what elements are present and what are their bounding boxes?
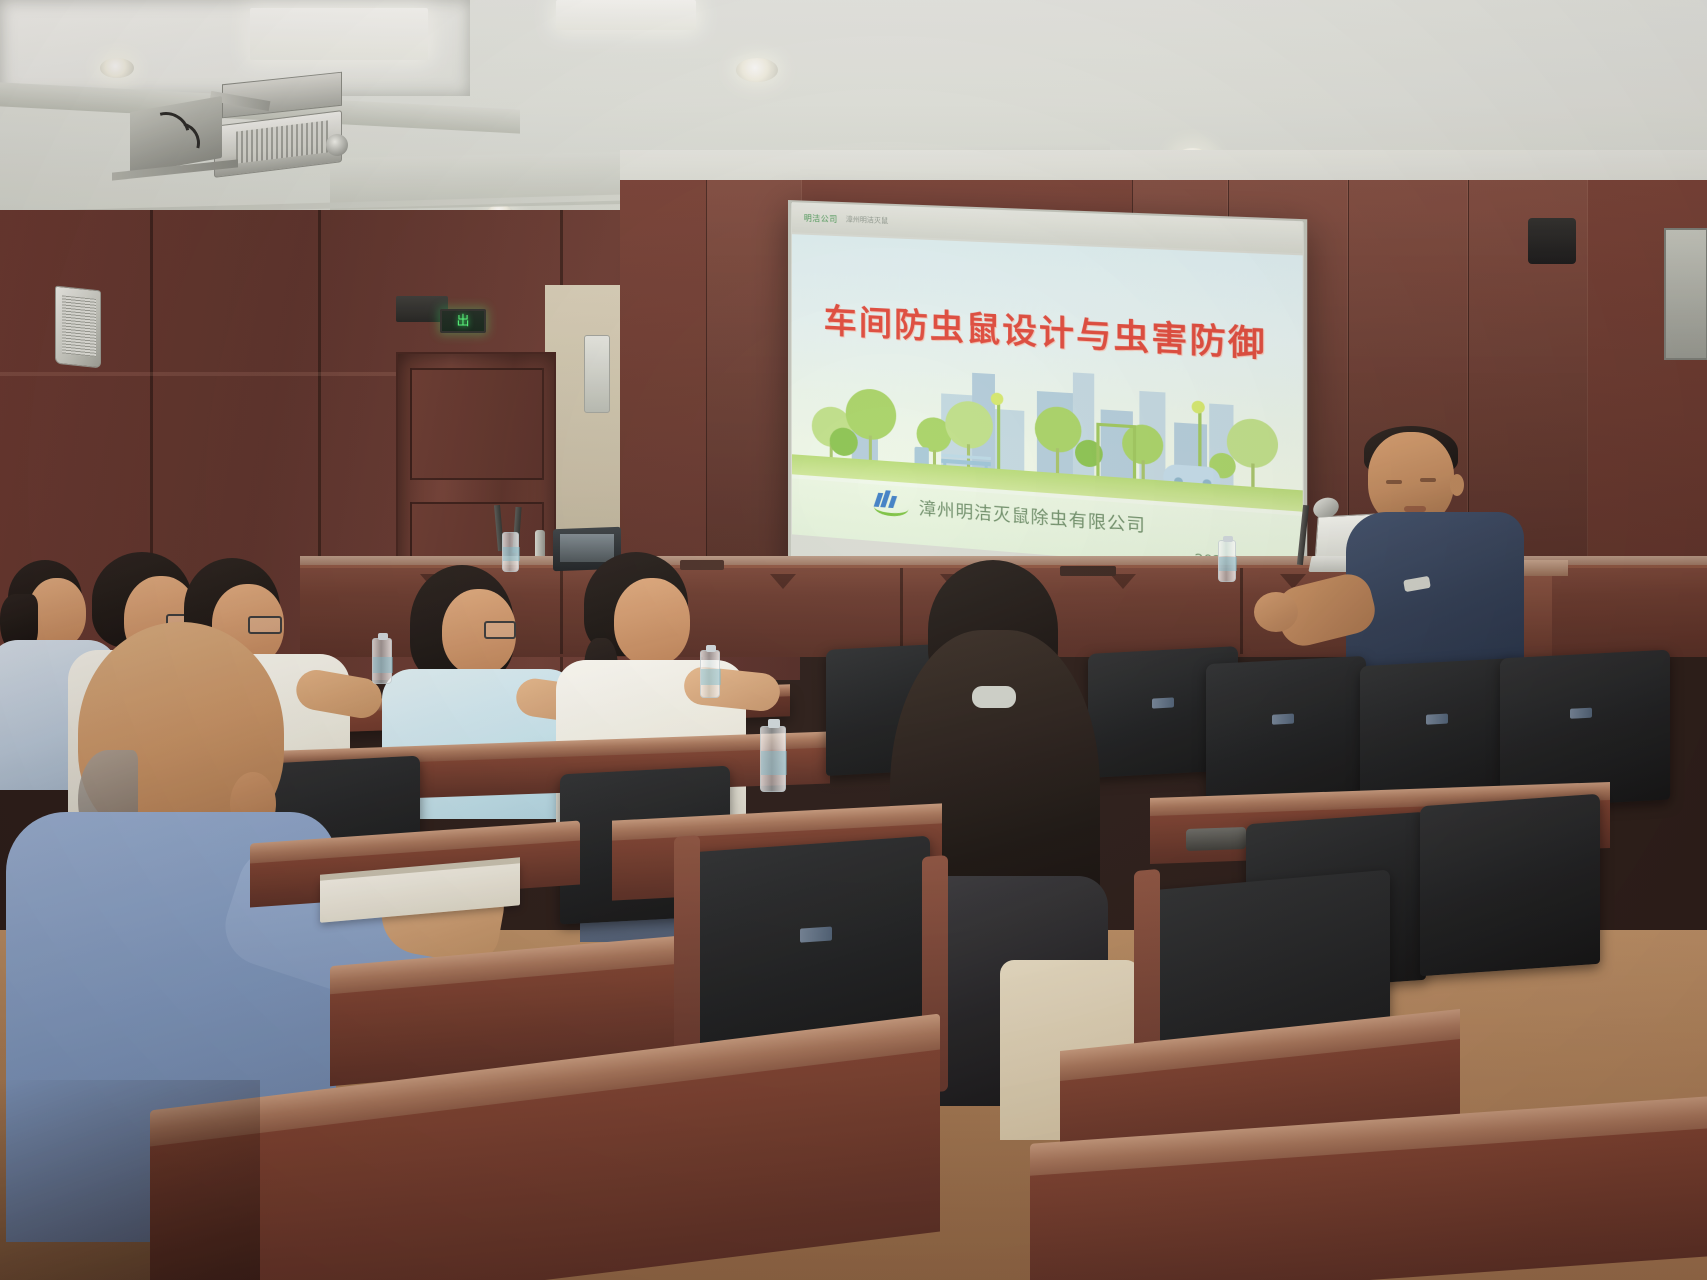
presenter-hand <box>1254 592 1298 632</box>
slide-header-logo-text: 明洁公司 <box>804 212 838 224</box>
wall-sconce-light <box>584 335 610 413</box>
presenter-eye-right <box>1420 478 1436 482</box>
exit-sign: 出 <box>440 309 486 333</box>
slide-header-note: 漳州明洁灭鼠 <box>846 214 888 226</box>
company-logo-icon <box>874 492 909 517</box>
swing-post-1 <box>1096 424 1099 478</box>
presenter-ear <box>1450 474 1464 496</box>
presenter-torso <box>1346 512 1524 672</box>
person5-head <box>614 578 690 666</box>
street-lamp-pole-1 <box>997 401 1000 471</box>
conference-room-photo: 出 明洁公司 漳州明洁灭鼠 车间防虫鼠设计与虫害防御 <box>0 0 1707 1280</box>
stage-divider-3 <box>1240 568 1243 654</box>
water-bottle-3[interactable] <box>760 726 786 792</box>
chair-badge-fg1 <box>800 926 832 942</box>
projector-lens <box>326 134 348 156</box>
keys-on-desk[interactable] <box>1186 827 1246 851</box>
wall-speaker <box>55 286 101 369</box>
ceiling-downlight-1 <box>100 58 134 78</box>
chair-badge-5 <box>1272 714 1294 725</box>
ceiling-downlight-2 <box>736 58 778 82</box>
chair-right-2[interactable] <box>1420 794 1600 977</box>
tree-trunk-9 <box>1251 463 1254 489</box>
chair-badge-7 <box>1570 708 1592 719</box>
street-lamp-head-2 <box>1192 400 1205 413</box>
exit-sign-label: 出 <box>456 315 469 328</box>
tree-trunk-6 <box>1056 448 1059 475</box>
water-bottle-podium[interactable] <box>1218 540 1236 582</box>
speaker-grille <box>62 295 96 357</box>
water-bottle-2[interactable] <box>700 650 720 698</box>
ceiling-projector <box>118 78 348 188</box>
person4-glasses <box>484 621 516 639</box>
swing-post-2 <box>1133 426 1136 481</box>
presenter <box>1340 432 1540 662</box>
wall-panel-frame-right <box>1664 228 1707 360</box>
street-lamp-head-1 <box>991 392 1004 405</box>
presenter-eye-left <box>1386 480 1402 484</box>
chair-badge-6 <box>1426 714 1448 725</box>
wall-camera <box>1528 218 1576 264</box>
person7-hair-tie <box>972 686 1016 708</box>
ceiling-panel-light-1 <box>250 8 428 60</box>
shadow-bottom-left <box>0 1080 260 1280</box>
chair-fg-1-arm <box>674 835 700 1073</box>
ceiling-panel-light-2 <box>556 0 696 30</box>
chair-mid-5[interactable] <box>1206 656 1366 804</box>
tree-trunk-2 <box>869 435 872 461</box>
stage-accent-3 <box>770 574 796 589</box>
door-panel-top <box>410 368 544 480</box>
slide-content: 车间防虫鼠设计与虫害防御 <box>792 234 1303 576</box>
